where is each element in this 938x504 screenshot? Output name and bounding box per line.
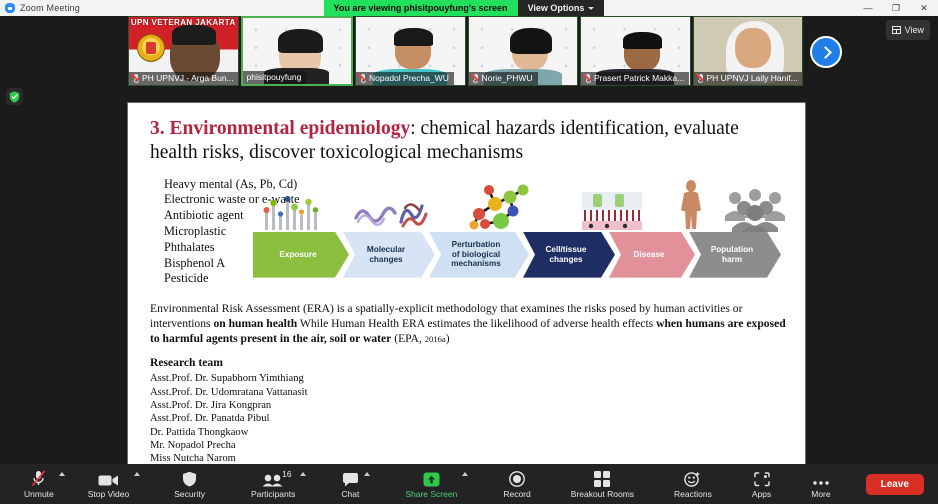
next-page-arrow-button[interactable] — [810, 36, 842, 68]
person-cap — [172, 25, 216, 45]
research-team-heading: Research team — [150, 356, 787, 371]
participants-caret-icon[interactable] — [300, 472, 306, 476]
apps-label: Apps — [752, 489, 771, 499]
thumbnail-label-3: Norie_PHWU — [469, 72, 538, 85]
zoom-meeting-window: Zoom Meeting You are viewing phisitpouyf… — [0, 0, 938, 504]
slide-title-highlight: 3. Environmental epidemiology — [150, 118, 410, 139]
breakout-rooms-icon — [594, 470, 610, 487]
meeting-toolbar: Unmute Stop Video Security — [0, 464, 938, 504]
colored-dots-icon — [261, 190, 323, 232]
participants-button[interactable]: 16 Participants — [241, 464, 305, 504]
unmute-button[interactable]: Unmute — [14, 464, 64, 504]
window-controls: — ❐ ✕ — [854, 0, 938, 16]
record-icon — [509, 470, 525, 487]
mic-muted-icon — [360, 74, 366, 83]
share-screen-button[interactable]: Share Screen — [395, 464, 467, 504]
more-ellipsis-icon — [812, 470, 830, 487]
record-button[interactable]: Record — [493, 464, 540, 504]
person-hair — [278, 29, 323, 53]
video-options-caret-icon[interactable] — [134, 472, 140, 476]
breakout-rooms-label: Breakout Rooms — [571, 489, 634, 499]
flow-step-exposure: Exposure — [253, 232, 349, 278]
thumbnail-label-2: Nopadol Precha_WU — [356, 72, 454, 85]
stop-video-button[interactable]: Stop Video — [78, 464, 139, 504]
tissue-icon — [581, 188, 643, 232]
share-options-caret-icon[interactable] — [462, 472, 468, 476]
para-part-3: (EPA, — [391, 332, 424, 345]
maximize-button[interactable]: ❐ — [882, 0, 910, 16]
team-member: Mr. Nopadol Precha — [150, 439, 787, 452]
more-button[interactable]: More — [801, 464, 840, 504]
mic-muted-icon — [698, 74, 704, 83]
flow-step-cell-tissue: Cell/tissuechanges — [523, 232, 615, 278]
chat-label: Chat — [341, 489, 359, 499]
human-body-icon — [673, 180, 709, 232]
person-hair — [510, 28, 552, 54]
participant-video-strip: UPN VETERAN JAKARTA PH UPNVJ - Arga Bun.… — [128, 16, 803, 86]
more-label: More — [811, 489, 830, 499]
video-thumbnail-4[interactable]: Prasert Patrick Makka... — [580, 16, 691, 86]
view-options-button[interactable]: View Options — [518, 0, 605, 16]
breakout-rooms-button[interactable]: Breakout Rooms — [561, 464, 644, 504]
flow-icon-row — [253, 177, 783, 232]
flow-arrow-row: Exposure Molecularchanges Perturbationof… — [253, 232, 783, 278]
molecule-icon — [465, 180, 537, 232]
window-title: Zoom Meeting — [20, 3, 80, 13]
unmute-label: Unmute — [24, 489, 54, 499]
flow-step-perturbation: Perturbationof biologicalmechanisms — [429, 232, 529, 278]
research-team-block: Research team Asst.Prof. Dr. Supabhorn Y… — [150, 356, 787, 465]
reactions-icon — [684, 470, 701, 487]
share-screen-label: Share Screen — [405, 489, 457, 499]
participant-name: Norie_PHWU — [482, 73, 533, 83]
flow-step-molecular: Molecularchanges — [343, 232, 435, 278]
reactions-button[interactable]: Reactions — [664, 464, 722, 504]
video-thumbnail-0[interactable]: UPN VETERAN JAKARTA PH UPNVJ - Arga Bun.… — [128, 16, 239, 86]
participant-name: phisitpouyfung — [247, 72, 302, 82]
para-citation-year: 2016a — [425, 334, 446, 344]
leave-button[interactable]: Leave — [866, 474, 924, 495]
chat-caret-icon[interactable] — [364, 472, 370, 476]
university-emblem-icon — [137, 34, 165, 62]
team-member: Dr. Pattida Thongkaow — [150, 426, 787, 439]
team-member: Asst.Prof. Dr. Panatda Pibul — [150, 412, 787, 425]
chat-button[interactable]: Chat — [331, 464, 369, 504]
security-label: Security — [174, 489, 205, 499]
flow-step-disease: Disease — [609, 232, 695, 278]
record-label: Record — [503, 489, 530, 499]
para-part-2: While Human Health ERA estimates the lik… — [297, 317, 656, 330]
video-camera-icon — [98, 470, 119, 487]
zoom-logo-icon — [5, 3, 15, 13]
apps-button[interactable]: Apps — [742, 464, 781, 504]
participant-name: Nopadol Precha_WU — [369, 73, 449, 83]
chevron-down-icon — [588, 7, 594, 10]
participants-label: Participants — [251, 489, 295, 499]
person-hair — [394, 28, 433, 46]
slide-diagram-area: Heavy mental (As, Pb, Cd) Electronic was… — [128, 177, 805, 297]
video-thumbnail-3[interactable]: Norie_PHWU — [468, 16, 579, 86]
encryption-status-button[interactable] — [6, 88, 23, 105]
reactions-label: Reactions — [674, 489, 712, 499]
team-member: Asst.Prof. Dr. Supabhorn Yimthiang — [150, 372, 787, 385]
dna-protein-icon — [353, 192, 431, 232]
view-layout-button[interactable]: View — [886, 20, 930, 40]
para-bold-1: on human health — [213, 317, 297, 330]
mic-muted-icon — [31, 470, 46, 487]
audio-options-caret-icon[interactable] — [59, 472, 65, 476]
thumbnail-label-5: PH UPNVJ Laily Hanif... — [694, 72, 803, 85]
shield-check-icon — [9, 91, 20, 103]
thumbnail-label-4: Prasert Patrick Makka... — [581, 72, 689, 85]
shared-screen-slide: 3. Environmental epidemiology: chemical … — [128, 103, 805, 465]
mic-muted-icon — [585, 74, 591, 83]
viewing-screen-banner: You are viewing phisitpouyfung's screen — [324, 0, 518, 16]
team-member: Asst.Prof. Dr. Jira Kongpran — [150, 399, 787, 412]
stop-video-label: Stop Video — [88, 489, 129, 499]
participants-count: 16 — [282, 469, 291, 479]
chevron-right-icon — [819, 46, 832, 59]
grid-view-icon — [892, 26, 901, 34]
share-screen-icon — [423, 470, 440, 487]
flow-step-population: Populationharm — [689, 232, 781, 278]
person-silhouette — [735, 28, 771, 68]
video-thumbnail-2[interactable]: Nopadol Precha_WU — [355, 16, 466, 86]
mic-muted-icon — [133, 74, 139, 83]
thumbnail-label-1: phisitpouyfung — [243, 71, 307, 84]
participants-icon — [262, 470, 284, 487]
chat-bubble-icon — [342, 470, 359, 487]
person-hair — [623, 32, 662, 49]
participant-name: Prasert Patrick Makka... — [594, 73, 684, 83]
view-options-label: View Options — [528, 3, 585, 13]
video-thumbnail-1[interactable]: phisitpouyfung — [241, 16, 354, 86]
mic-muted-icon — [473, 74, 479, 83]
crowd-icon — [723, 188, 787, 232]
title-bar: Zoom Meeting You are viewing phisitpouyf… — [0, 0, 938, 16]
participant-name: PH UPNVJ - Arga Bun... — [142, 73, 234, 83]
exposure-to-harm-flow: Exposure Molecularchanges Perturbationof… — [253, 177, 783, 295]
para-part-4: ) — [446, 332, 450, 345]
participant-name: PH UPNVJ Laily Hanif... — [707, 73, 798, 83]
thumbnail-label-0: PH UPNVJ - Arga Bun... — [129, 72, 238, 85]
video-thumbnail-5[interactable]: PH UPNVJ Laily Hanif... — [693, 16, 804, 86]
team-member: Asst.Prof. Dr. Udomratana Vattanasit — [150, 386, 787, 399]
apps-icon — [754, 470, 770, 487]
close-button[interactable]: ✕ — [910, 0, 938, 16]
minimize-button[interactable]: — — [854, 0, 882, 16]
era-definition-paragraph: Environmental Risk Assessment (ERA) is a… — [150, 301, 787, 347]
shield-icon — [182, 470, 197, 487]
view-button-label: View — [905, 25, 924, 35]
security-button[interactable]: Security — [164, 464, 215, 504]
slide-title: 3. Environmental epidemiology: chemical … — [150, 117, 787, 165]
